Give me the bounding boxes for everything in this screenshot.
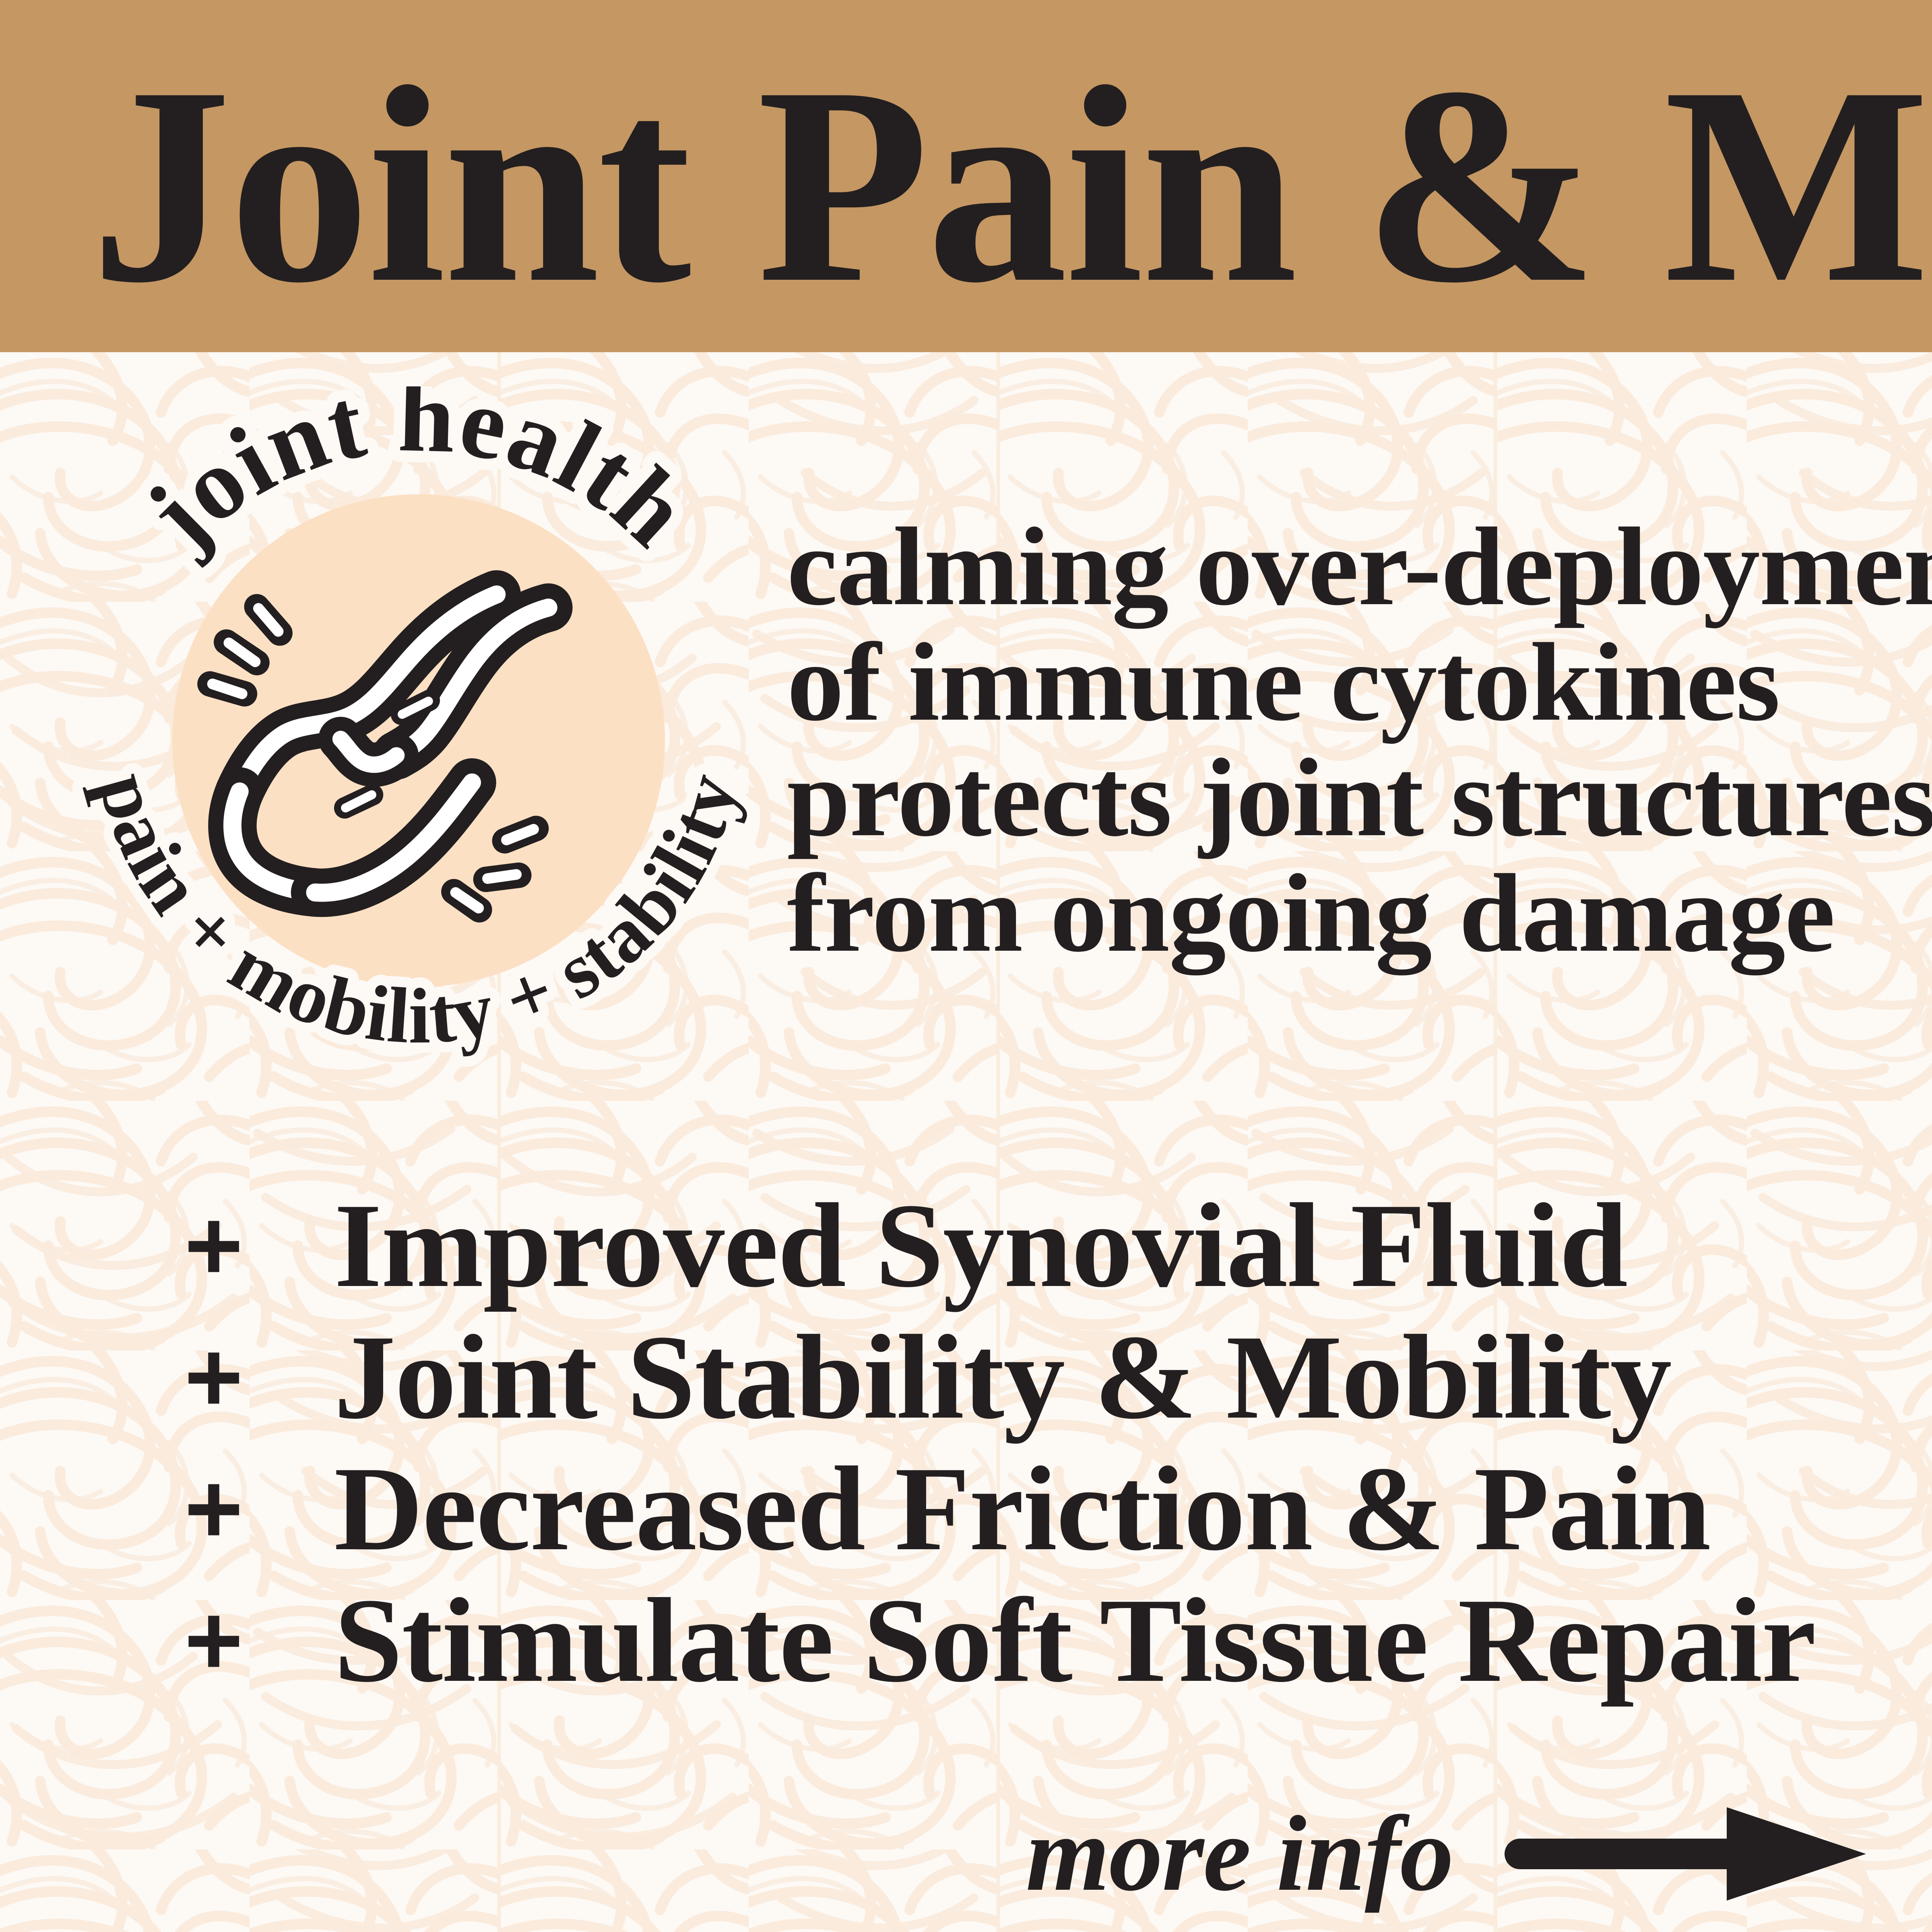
more-info-label[interactable]: more info xyxy=(1026,1800,1453,1907)
lede-line-4: from ongoing damage xyxy=(787,856,1932,971)
joint-health-badge: joint health joint health pain + mobilit… xyxy=(64,386,773,1095)
plus-icon: + xyxy=(173,1195,334,1296)
plus-icon: + xyxy=(173,1327,334,1427)
lede-line-3: protects joint structures xyxy=(787,740,1932,856)
benefit-item-2: + Joint Stability & Mobility xyxy=(173,1311,1803,1443)
benefit-label-1: Improved Synovial Fluid xyxy=(334,1185,1627,1306)
lede-line-1: calming over-deployment xyxy=(787,509,1932,625)
lede-line-2: of immune cytokines xyxy=(787,625,1932,740)
benefit-item-3: + Decreased Friction & Pain xyxy=(173,1443,1803,1574)
header-band: Joint Pain & Mobility xyxy=(0,0,1932,352)
benefit-label-2: Joint Stability & Mobility xyxy=(334,1317,1671,1437)
plus-icon: + xyxy=(173,1590,334,1690)
lede-paragraph: calming over-deployment of immune cytoki… xyxy=(787,509,1914,971)
benefit-label-3: Decreased Friction & Pain xyxy=(334,1448,1710,1569)
benefits-list: + Improved Synovial Fluid + Joint Stabil… xyxy=(173,1179,1803,1706)
benefit-item-4: + Stimulate Soft Tissue Repair xyxy=(173,1574,1803,1706)
infographic-poster: Joint Pain & Mobility xyxy=(0,0,1932,1932)
plus-icon: + xyxy=(173,1458,334,1559)
benefit-label-4: Stimulate Soft Tissue Repair xyxy=(334,1580,1815,1701)
benefit-item-1: + Improved Synovial Fluid xyxy=(173,1179,1803,1311)
more-info-cta[interactable]: more info xyxy=(1022,1787,1876,1920)
arrow-right-icon[interactable] xyxy=(1501,1803,1876,1904)
page-title: Joint Pain & Mobility xyxy=(91,20,1862,350)
